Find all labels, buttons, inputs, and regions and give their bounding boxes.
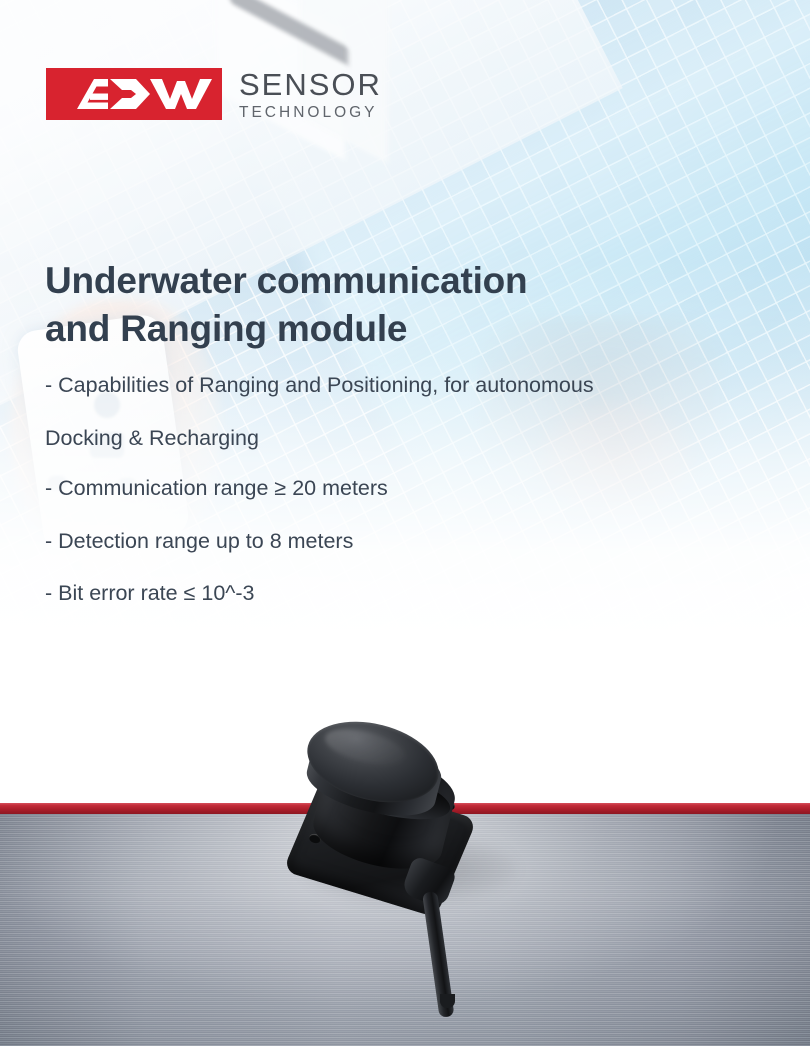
brand-wordmark: SENSOR TECHNOLOGY <box>239 68 382 121</box>
feature-item: - Communication range ≥ 20 meters <box>45 478 775 500</box>
brand-logo: SENSOR TECHNOLOGY <box>46 68 382 121</box>
feature-item: - Bit error rate ≤ 10^-3 <box>45 583 775 605</box>
feature-item-continuation: Docking & Recharging <box>45 428 775 450</box>
datasheet-page: SENSOR TECHNOLOGY Underwater communicati… <box>0 0 810 1046</box>
feature-item: - Capabilities of Ranging and Positionin… <box>45 375 775 397</box>
feature-item: - Detection range up to 8 meters <box>45 531 775 553</box>
page-title-line1: Underwater communication <box>45 260 527 301</box>
brand-name-line1: SENSOR <box>239 69 382 100</box>
page-title: Underwater communication and Ranging mod… <box>45 257 685 353</box>
product-cable-tip <box>440 994 455 1008</box>
adw-logo-mark <box>46 68 222 120</box>
brand-name-line2: TECHNOLOGY <box>239 105 382 121</box>
page-title-line2: and Ranging module <box>45 308 407 349</box>
feature-list: - Capabilities of Ranging and Positionin… <box>45 375 775 636</box>
product-image <box>280 716 540 1016</box>
